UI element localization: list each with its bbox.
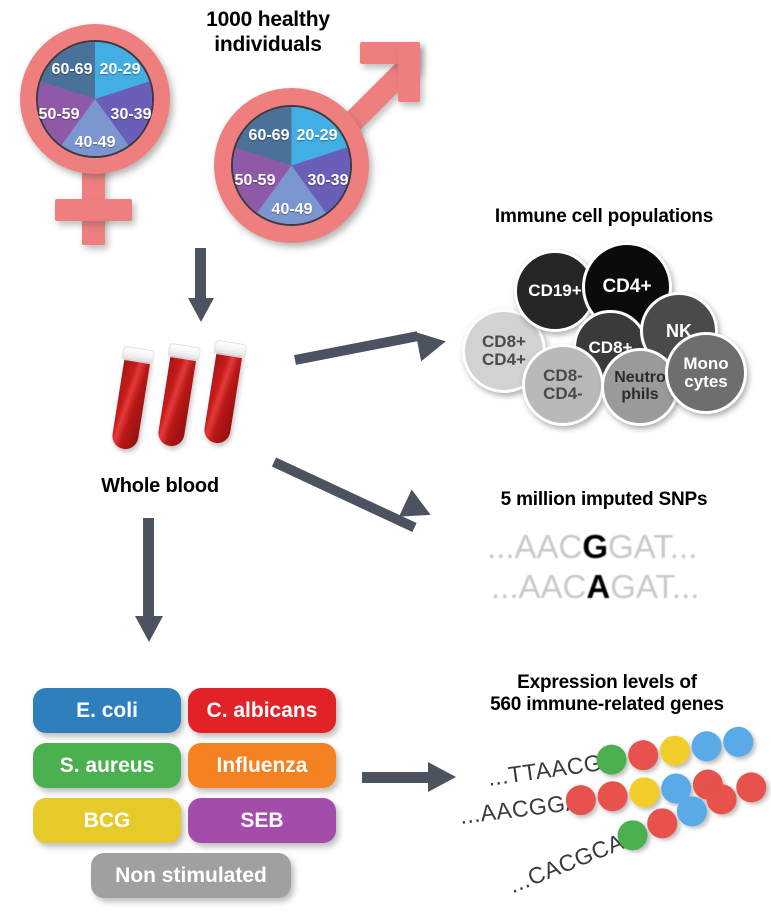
gene-bead (690, 729, 724, 763)
arrow-shaft (272, 457, 417, 532)
arrow-head (415, 327, 448, 362)
whole-blood-tubes (110, 340, 295, 460)
gene-bead (721, 725, 755, 759)
male-symbol: 20-29 30-39 40-49 50-59 60-69 (200, 38, 425, 248)
stimulus-non-stimulated[interactable]: Non stimulated (91, 853, 291, 898)
arrow-shaft (294, 331, 419, 365)
pie-label-30-39: 30-39 (308, 172, 349, 190)
stimulus-bcg[interactable]: BCG (33, 798, 181, 843)
pie-label-40-49: 40-49 (75, 134, 116, 152)
expression-title: Expression levels of 560 immune-related … (452, 672, 762, 716)
pie-label-20-29: 20-29 (100, 61, 141, 79)
stimulus-s-aureus[interactable]: S. aureus (33, 743, 181, 788)
stimuli-panel: E. coli C. albicans S. aureus Influenza … (33, 688, 343, 893)
expression-strands: ...TTAACGG ...AACGGAT ...CACGCAA (470, 742, 770, 902)
arrow-head (428, 762, 456, 792)
pie-label-30-39: 30-39 (111, 106, 152, 124)
snp-suffix: GAT... (610, 568, 699, 605)
snp-prefix: ...AAC (491, 568, 586, 605)
stimulus-e-coli[interactable]: E. coli (33, 688, 181, 733)
arrow-shaft (195, 248, 206, 301)
female-symbol-crossbar (55, 199, 132, 221)
snp-prefix: ...AAC (487, 528, 582, 565)
figure-canvas: 1000 healthy individuals 20-29 30-39 40-… (0, 0, 771, 922)
stimulus-influenza[interactable]: Influenza (188, 743, 336, 788)
arrow-shaft (362, 772, 430, 783)
blood-tube-body (111, 356, 151, 451)
male-symbol-arrowhead-vertical (398, 42, 420, 102)
snp-variant: G (582, 528, 608, 565)
snp-suffix: GAT... (608, 528, 697, 565)
pie-label-50-59: 50-59 (235, 172, 276, 190)
female-symbol: 20-29 30-39 40-49 50-59 60-69 (10, 12, 190, 242)
arrow-head (188, 298, 214, 322)
snp-variant: A (586, 568, 610, 605)
arrow-blood-to-immune (295, 325, 455, 380)
snps-title: 5 million imputed SNPs (444, 489, 764, 511)
gene-bead (628, 776, 661, 809)
arrow-head (135, 616, 163, 642)
gene-bead (596, 780, 629, 813)
pie-label-60-69: 60-69 (249, 127, 290, 145)
stimulus-c-albicans[interactable]: C. albicans (188, 688, 336, 733)
immune-cell-cluster: CD8+ CD4+ CD19+ CD4+ CD8+ NK CD8- CD4- N… (460, 240, 760, 425)
pie-label-50-59: 50-59 (39, 106, 80, 124)
immune-cell-populations-title: Immune cell populations (444, 206, 764, 228)
whole-blood-label: Whole blood (60, 475, 260, 498)
stimulus-seb[interactable]: SEB (188, 798, 336, 843)
snp-sequences: ...AACGGAT... ...AACAGAT... (487, 528, 747, 618)
pie-label-20-29: 20-29 (297, 127, 338, 145)
blood-tube (156, 343, 204, 453)
pie-label-40-49: 40-49 (272, 201, 313, 219)
cell-cd8neg-cd4neg: CD8- CD4- (522, 344, 604, 426)
snp-allele-1: ...AACGGAT... (487, 528, 697, 566)
blood-tube (110, 346, 158, 456)
blood-tube-body (203, 350, 243, 445)
cell-monocytes: Mono cytes (665, 332, 747, 414)
snp-allele-2: ...AACAGAT... (491, 568, 699, 606)
gene-bead (626, 738, 660, 772)
arrow-blood-to-stimuli (131, 518, 167, 644)
arrow-shaft (143, 518, 154, 620)
pie-label-60-69: 60-69 (52, 61, 93, 79)
arrow-cohort-to-blood (186, 248, 218, 322)
blood-tube (202, 340, 250, 450)
blood-tube-body (157, 353, 197, 448)
arrow-blood-to-snps (272, 432, 467, 542)
arrow-stimuli-to-expression (362, 760, 472, 800)
gene-bead (658, 734, 692, 768)
